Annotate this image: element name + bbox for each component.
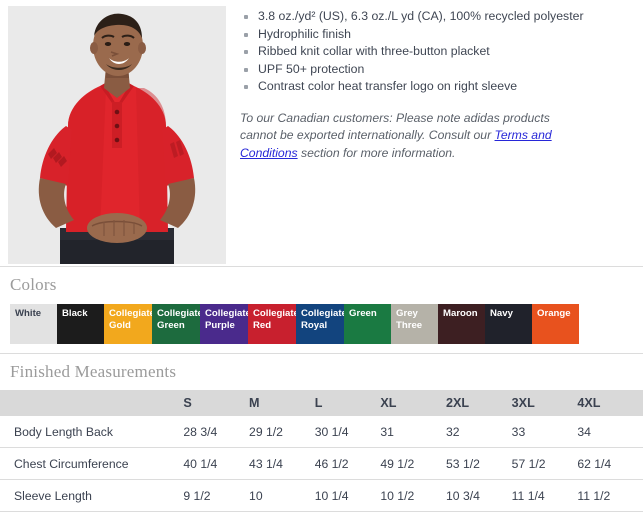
feature-list: 3.8 oz./yd² (US), 6.3 oz./L yd (CA), 100… — [240, 8, 643, 96]
measurements-table-wrap: S M L XL 2XL 3XL 4XL Body Length Back 28… — [0, 390, 643, 512]
cell-4xl: 34 — [577, 416, 643, 448]
color-swatch-collegiate-gold[interactable]: Collegiate Gold — [104, 304, 152, 344]
cell-3xl: 11 1/4 — [512, 480, 578, 512]
table-row: Body Length Back 28 3/4 29 1/2 30 1/4 31… — [0, 416, 643, 448]
row-label: Body Length Back — [0, 416, 183, 448]
color-swatch-collegiate-purple[interactable]: Collegiate Purple — [200, 304, 248, 344]
cell-4xl: 11 1/2 — [577, 480, 643, 512]
cell-m: 43 1/4 — [249, 448, 315, 480]
cell-s: 40 1/4 — [183, 448, 249, 480]
feature-item: Contrast color heat transfer logo on rig… — [240, 78, 643, 96]
color-swatch-maroon[interactable]: Maroon — [438, 304, 485, 344]
feature-item: UPF 50+ protection — [240, 61, 643, 79]
column-header-xl: XL — [380, 390, 446, 416]
color-swatch-white[interactable]: White — [10, 304, 57, 344]
cell-3xl: 57 1/2 — [512, 448, 578, 480]
model-photo-illustration — [8, 6, 226, 264]
product-photo[interactable] — [8, 6, 226, 264]
feature-item: Hydrophilic finish — [240, 26, 643, 44]
row-label: Chest Circumference — [0, 448, 183, 480]
color-swatch-orange[interactable]: Orange — [532, 304, 579, 344]
color-swatch-collegiate-royal[interactable]: Collegiate Royal — [296, 304, 344, 344]
column-header-measurement — [0, 390, 183, 416]
cell-m: 10 — [249, 480, 315, 512]
row-label: Sleeve Length — [0, 480, 183, 512]
cell-xl: 49 1/2 — [380, 448, 446, 480]
cell-2xl: 10 3/4 — [446, 480, 512, 512]
color-swatch-navy[interactable]: Navy — [485, 304, 532, 344]
cell-l: 46 1/2 — [315, 448, 381, 480]
column-header-2xl: 2XL — [446, 390, 512, 416]
feature-item: 3.8 oz./yd² (US), 6.3 oz./L yd (CA), 100… — [240, 8, 643, 26]
cell-m: 29 1/2 — [249, 416, 315, 448]
column-header-s: S — [183, 390, 249, 416]
table-row: Sleeve Length 9 1/2 10 10 1/4 10 1/2 10 … — [0, 480, 643, 512]
finished-measurements-table: S M L XL 2XL 3XL 4XL Body Length Back 28… — [0, 390, 643, 512]
cell-3xl: 33 — [512, 416, 578, 448]
column-header-m: M — [249, 390, 315, 416]
cell-4xl: 62 1/4 — [577, 448, 643, 480]
cell-xl: 10 1/2 — [380, 480, 446, 512]
disclaimer-text-after: section for more information. — [298, 146, 456, 160]
cell-2xl: 32 — [446, 416, 512, 448]
canadian-customers-disclaimer: To our Canadian customers: Please note a… — [240, 110, 570, 163]
cell-s: 9 1/2 — [183, 480, 249, 512]
color-swatch-list: White Black Collegiate Gold Collegiate G… — [10, 304, 543, 344]
feature-item: Ribbed knit collar with three-button pla… — [240, 43, 643, 61]
color-swatch-collegiate-green[interactable]: Collegiate Green — [152, 304, 200, 344]
color-swatch-collegiate-red[interactable]: Collegiate Red — [248, 304, 296, 344]
cell-xl: 31 — [380, 416, 446, 448]
column-header-4xl: 4XL — [577, 390, 643, 416]
product-overview: 3.8 oz./yd² (US), 6.3 oz./L yd (CA), 100… — [0, 0, 643, 266]
color-swatch-green[interactable]: Green — [344, 304, 391, 344]
table-header-row: S M L XL 2XL 3XL 4XL — [0, 390, 643, 416]
column-header-l: L — [315, 390, 381, 416]
color-swatch-grey-three[interactable]: Grey Three — [391, 304, 438, 344]
cell-l: 30 1/4 — [315, 416, 381, 448]
cell-s: 28 3/4 — [183, 416, 249, 448]
table-row: Chest Circumference 40 1/4 43 1/4 46 1/2… — [0, 448, 643, 480]
cell-2xl: 53 1/2 — [446, 448, 512, 480]
colors-heading: Colors — [0, 267, 643, 295]
measurements-heading: Finished Measurements — [0, 354, 643, 382]
product-details: 3.8 oz./yd² (US), 6.3 oz./L yd (CA), 100… — [226, 0, 643, 174]
column-header-3xl: 3XL — [512, 390, 578, 416]
cell-l: 10 1/4 — [315, 480, 381, 512]
color-swatch-black[interactable]: Black — [57, 304, 104, 344]
